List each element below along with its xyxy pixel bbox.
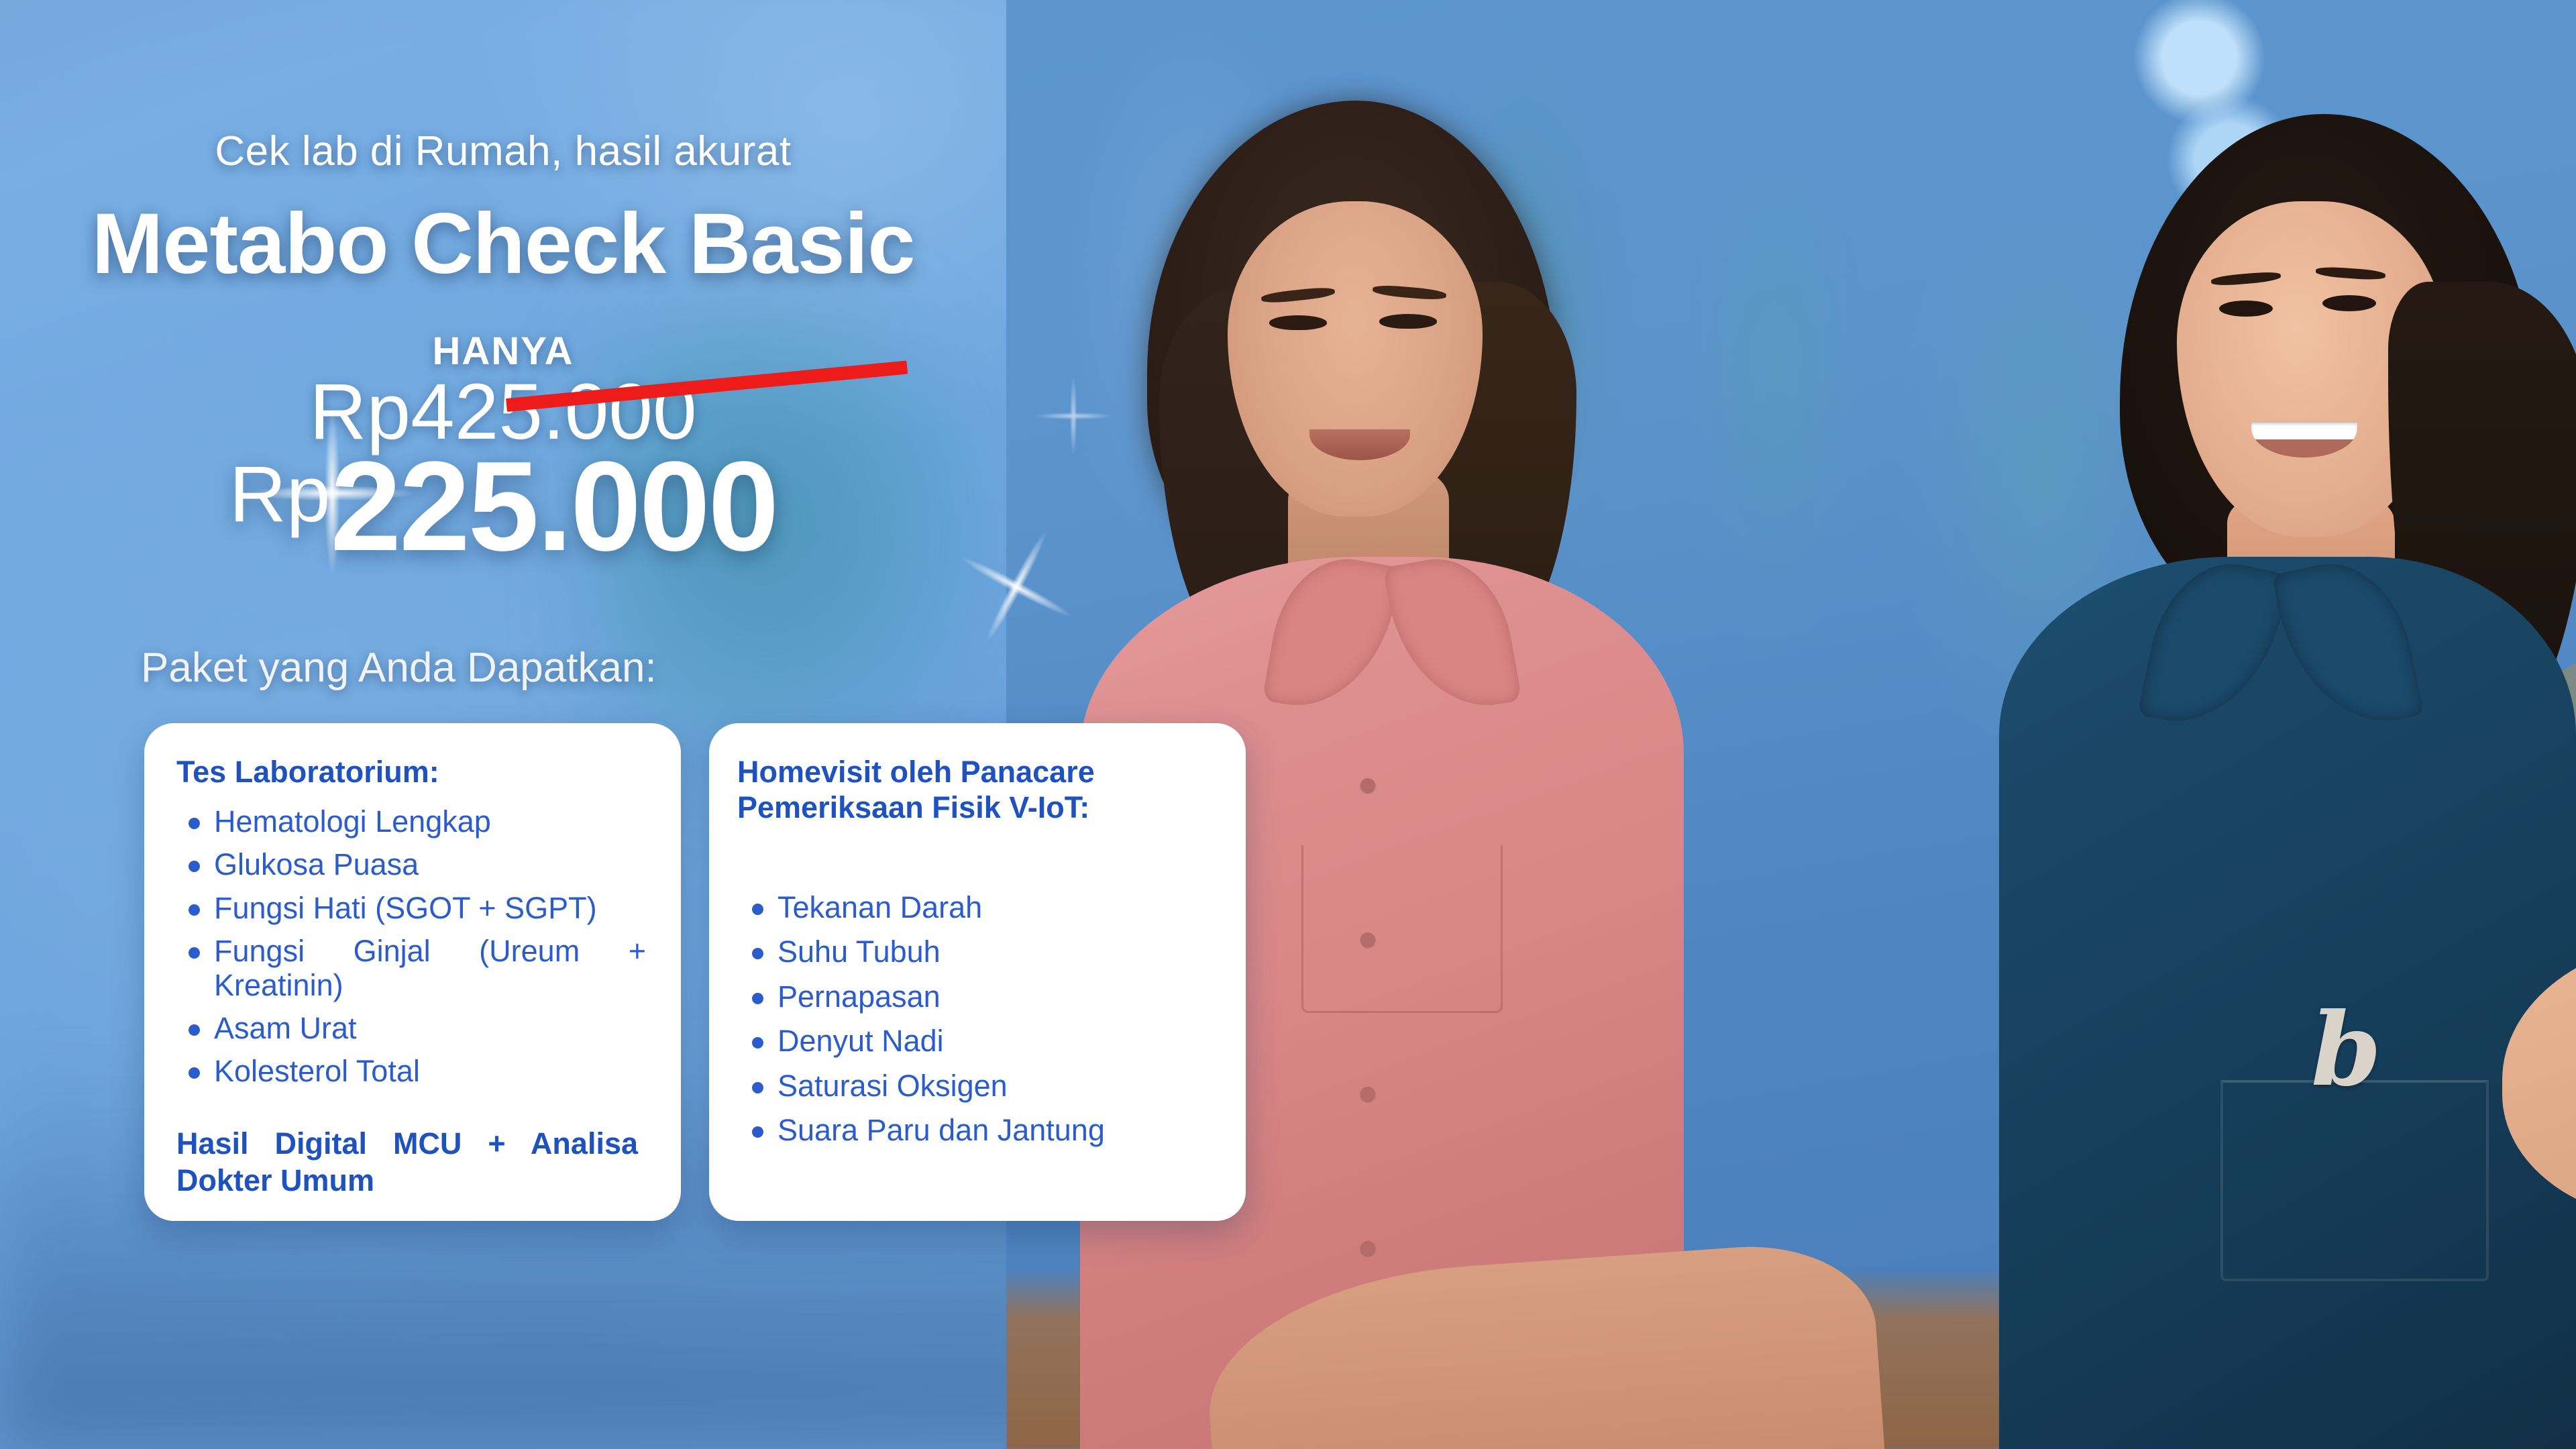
patient-collar-right [1383,548,1521,720]
patient-shirt-button [1360,1087,1375,1102]
patient-eye-right [1379,314,1437,329]
homevisit-title: Homevisit oleh Panacare Pemeriksaan Fisi… [737,754,1180,825]
lab-card-footer: Hasil Digital MCU + Analisa Dokter Umum [176,1126,638,1199]
eyebrow-text: Cek lab di Rumah, hasil akurat [0,127,1006,175]
lab-tests-list: Hematologi Lengkap Glukosa Puasa Fungsi … [176,805,646,1098]
panacare-logo-icon: b [2311,1000,2381,1100]
list-item: Suhu Tubuh [740,935,1210,969]
page-title: Metabo Check Basic [0,195,1006,293]
hero-photo: b [1006,0,2576,1449]
list-item: Denyut Nadi [740,1024,1210,1058]
list-item: Pernapasan [740,980,1210,1014]
nurse-collar-left [2137,550,2290,739]
patient-collar-left [1262,548,1401,720]
list-item: Hematologi Lengkap [176,805,646,839]
new-price-amount: 225.000 [331,435,777,578]
new-price: Rp225.000 [229,443,777,570]
patient-shirt-button [1360,778,1375,793]
patient-shirt-pocket [1301,845,1503,1013]
nurse-eye-right [2322,295,2376,311]
lab-tests-card: Tes Laboratorium: Hematologi Lengkap Glu… [144,723,681,1221]
homevisit-title-line1: Homevisit oleh Panacare [737,754,1180,790]
patient-shirt-button [1360,1241,1375,1256]
nurse-eye-left [2219,301,2273,317]
list-item: Fungsi Hati (SGOT + SGPT) [176,892,646,925]
list-item: Fungsi Ginjal (Ureum + Kreatinin) [176,934,646,1002]
list-item: Kolesterol Total [176,1055,646,1088]
nurse-collar-right [2271,550,2424,739]
lab-tests-title: Tes Laboratorium: [176,754,439,790]
new-price-row: Rp225.000 [0,443,1006,570]
nurse-navy-uniform [1999,557,2576,1449]
list-item: Suara Paru dan Jantung [740,1114,1210,1147]
list-item: Asam Urat [176,1012,646,1045]
package-label: Paket yang Anda Dapatkan: [141,644,657,692]
homevisit-title-line2: Pemeriksaan Fisik V-IoT: [737,790,1180,825]
nurse-chest-pocket [2220,1080,2489,1281]
homevisit-card: Homevisit oleh Panacare Pemeriksaan Fisi… [709,723,1246,1221]
list-item: Tekanan Darah [740,891,1210,924]
patient-eye-left [1269,315,1327,330]
new-price-currency: Rp [229,450,331,539]
list-item: Saturasi Oksigen [740,1069,1210,1103]
list-item: Glukosa Puasa [176,848,646,881]
homevisit-list: Tekanan Darah Suhu Tubuh Pernapasan Deny… [740,891,1210,1158]
